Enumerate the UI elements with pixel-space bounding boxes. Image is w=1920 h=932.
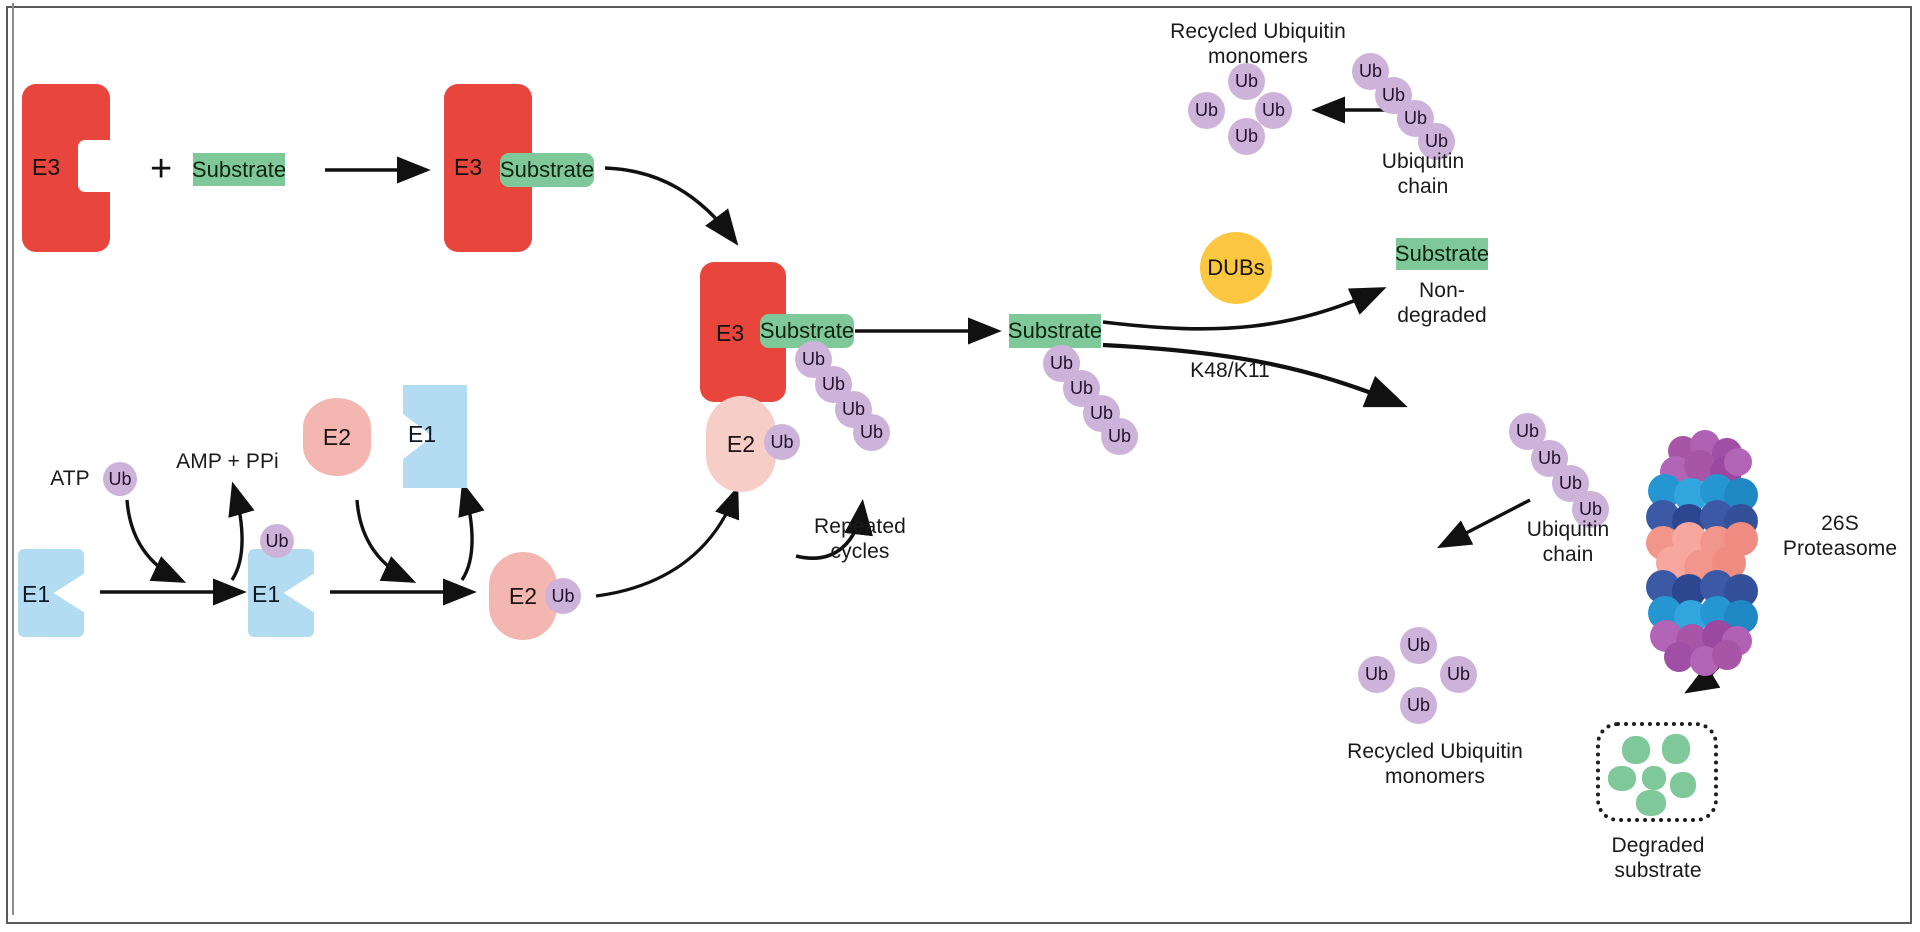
ub-on-e1: Ub (260, 524, 294, 558)
degraded-blob (1662, 734, 1690, 764)
plus-sign: + (150, 148, 172, 191)
substrate-non-degraded[interactable]: Substrate (1396, 238, 1488, 270)
proteasome-cap-bead (1712, 640, 1742, 670)
repeated-cycles-label: Repeated cycles (780, 515, 940, 565)
e3-free-label: E3 (32, 154, 60, 181)
ub-polyub-4: Ub (1101, 418, 1138, 455)
proteasome-26s[interactable] (1654, 452, 1758, 578)
e3-bound-label: E3 (454, 154, 482, 181)
proteasome-label: 26S Proteasome (1770, 512, 1910, 562)
non-degraded-label: Non-degraded (1378, 279, 1506, 329)
e1-free[interactable]: E1 (18, 549, 84, 637)
e1-recycled[interactable]: E1 (403, 385, 467, 488)
ubiquitin-chain-bottom-label: Ubiquitin chain (1498, 518, 1638, 568)
ub-monomer-bottom-4: Ub (1400, 687, 1437, 724)
degraded-substrate-label: Degraded substrate (1568, 834, 1748, 884)
ubiquitin-chain-top-label: Ubiquitin chain (1358, 150, 1488, 200)
degraded-blob (1622, 736, 1650, 764)
substrate-bound[interactable]: Substrate (500, 153, 594, 187)
e2-free[interactable]: E2 (303, 398, 371, 476)
recycled-monomers-top-label: Recycled Ubiquitin monomers (1148, 20, 1368, 70)
degraded-blob (1636, 790, 1666, 816)
k48-k11-label: K48/K11 (1175, 359, 1285, 384)
recycled-monomers-bottom-label: Recycled Ubiquitin monomers (1320, 740, 1550, 790)
ub-monomer-bottom-2: Ub (1358, 656, 1395, 693)
ub-atp: Ub (103, 462, 137, 496)
e1-free-label: E1 (22, 581, 50, 608)
e3-free-notch (78, 140, 111, 192)
diagram-canvas: E3 + Substrate E3 Substrate E3 Substrate… (0, 0, 1920, 932)
e3-central-label: E3 (716, 320, 744, 347)
amp-ppi-label: AMP + PPi (160, 450, 295, 475)
ub-monomer-bottom-3: Ub (1440, 656, 1477, 693)
degraded-blob (1670, 772, 1696, 798)
ub-monomer-top-2: Ub (1188, 92, 1225, 129)
dubs-enzyme[interactable]: DUBs (1200, 232, 1272, 304)
ub-monomer-bottom-1: Ub (1400, 627, 1437, 664)
atp-label: ATP (40, 467, 100, 492)
ub-monomer-top-1: Ub (1228, 63, 1265, 100)
degraded-blob (1642, 766, 1666, 790)
e1-ub[interactable]: E1 (248, 549, 314, 637)
e1-recycled-label: E1 (408, 421, 436, 448)
ub-monomer-top-4: Ub (1228, 118, 1265, 155)
ub-monomer-top-3: Ub (1255, 92, 1292, 129)
substrate-polyub[interactable]: Substrate (1009, 314, 1101, 348)
proteasome-cap-bead (1724, 448, 1752, 476)
degraded-substrate-box (1596, 722, 1718, 822)
substrate-free[interactable]: Substrate (193, 153, 285, 186)
ub-on-e2: Ub (545, 578, 581, 614)
ub-on-e2-central: Ub (764, 424, 800, 460)
degraded-blob (1608, 766, 1636, 791)
ub-chain-central-4: Ub (853, 414, 890, 451)
e1-ub-label: E1 (252, 581, 280, 608)
